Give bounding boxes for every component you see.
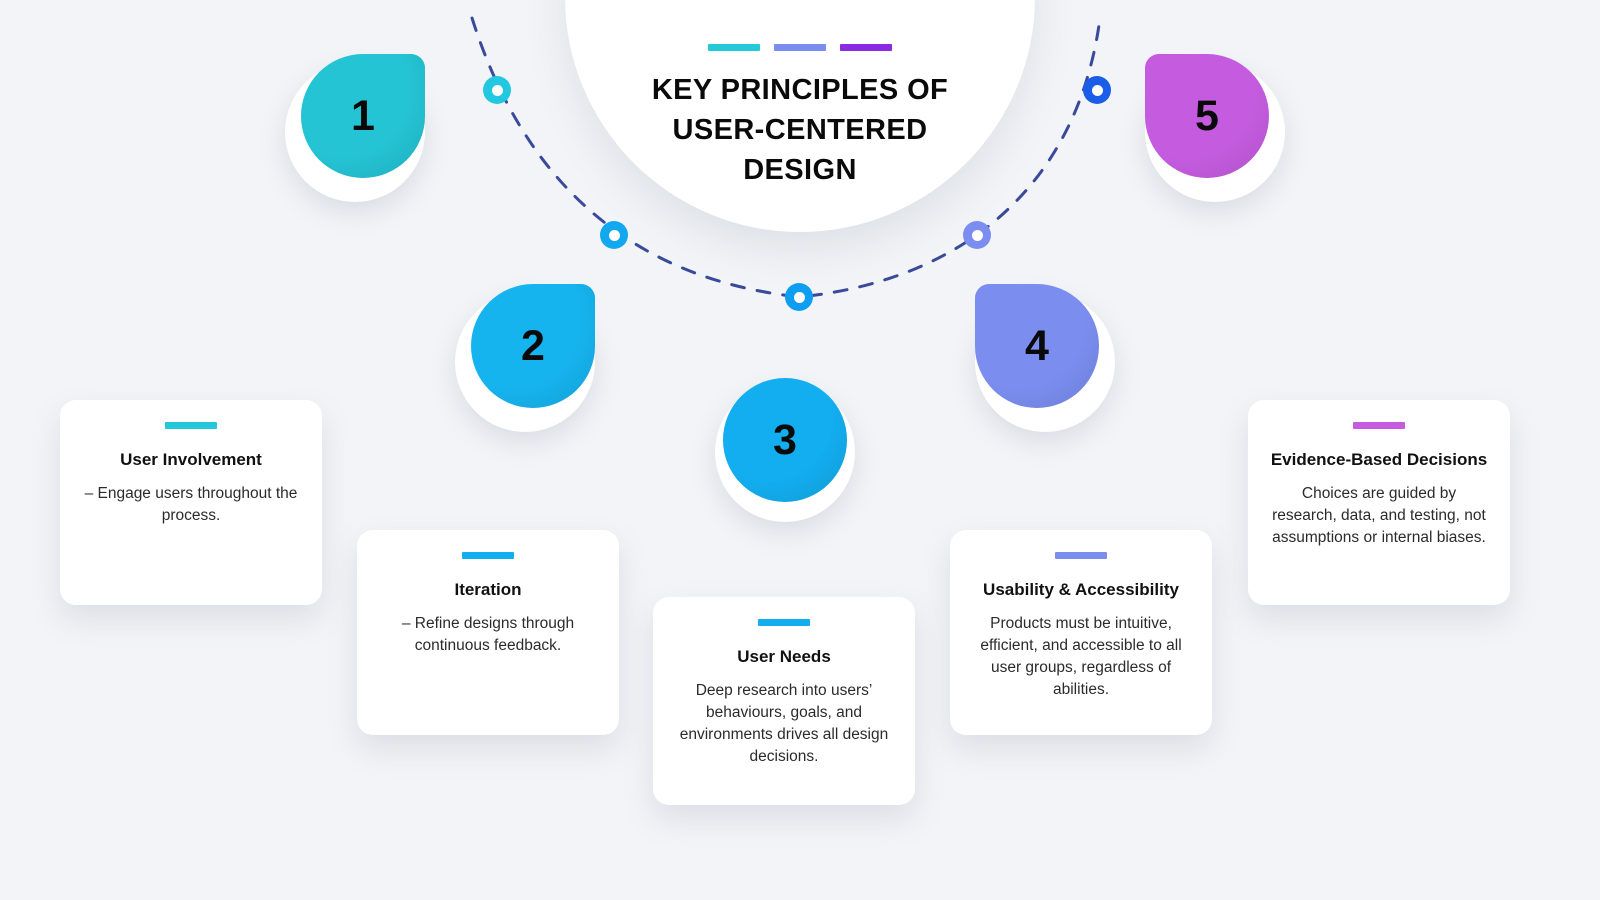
card-usability-accessibility[interactable]: Usability & Accessibility Products must …: [950, 530, 1212, 735]
card-body-2: – Refine designs through continuous feed…: [377, 613, 599, 657]
card-title-5: Evidence-Based Decisions: [1271, 448, 1487, 471]
step-number-1: 1: [351, 95, 375, 138]
step-disc-5: 5: [1145, 54, 1269, 178]
infographic-canvas: KEY PRINCIPLES OF USER-CENTERED DESIGN 1…: [0, 0, 1600, 900]
card-accent-bar-3: [758, 619, 810, 626]
arc-node-3: [785, 283, 813, 311]
step-circle-1: 1: [285, 62, 425, 202]
header-accent-bars: [708, 44, 892, 51]
step-number-2: 2: [521, 325, 545, 368]
card-accent-bar-2: [462, 552, 514, 559]
step-disc-2: 2: [471, 284, 595, 408]
header-bar-purple: [840, 44, 892, 51]
hero-title-circle: KEY PRINCIPLES OF USER-CENTERED DESIGN: [565, 0, 1035, 232]
step-circle-5: 5: [1145, 62, 1285, 202]
step-number-4: 4: [1025, 325, 1049, 368]
arc-node-1: [483, 76, 511, 104]
card-title-3: User Needs: [737, 645, 831, 668]
step-number-3: 3: [773, 419, 797, 462]
header-bar-teal: [708, 44, 760, 51]
card-accent-bar-5: [1353, 422, 1405, 429]
arc-node-2: [600, 221, 628, 249]
step-circle-3: 3: [715, 382, 855, 522]
card-accent-bar-4: [1055, 552, 1107, 559]
arc-node-4: [963, 221, 991, 249]
step-number-5: 5: [1195, 95, 1219, 138]
card-title-2: Iteration: [454, 578, 521, 601]
step-disc-1: 1: [301, 54, 425, 178]
card-title-4: Usability & Accessibility: [983, 578, 1179, 601]
card-body-3: Deep research into users’ behaviours, go…: [673, 680, 895, 768]
page-title: KEY PRINCIPLES OF USER-CENTERED DESIGN: [625, 70, 975, 190]
step-circle-4: 4: [975, 292, 1115, 432]
card-body-4: Products must be intuitive, efficient, a…: [970, 613, 1192, 701]
card-user-needs[interactable]: User Needs Deep research into users’ beh…: [653, 597, 915, 805]
card-body-1: – Engage users throughout the process.: [80, 483, 302, 527]
step-disc-3: 3: [723, 378, 847, 502]
header-bar-periwinkle: [774, 44, 826, 51]
card-iteration[interactable]: Iteration – Refine designs through conti…: [357, 530, 619, 735]
card-user-involvement[interactable]: User Involvement – Engage users througho…: [60, 400, 322, 605]
arc-node-5: [1083, 76, 1111, 104]
step-disc-4: 4: [975, 284, 1099, 408]
card-accent-bar-1: [165, 422, 217, 429]
step-circle-2: 2: [455, 292, 595, 432]
card-title-1: User Involvement: [120, 448, 262, 471]
card-evidence-based-decisions[interactable]: Evidence-Based Decisions Choices are gui…: [1248, 400, 1510, 605]
card-body-5: Choices are guided by research, data, an…: [1268, 483, 1490, 549]
